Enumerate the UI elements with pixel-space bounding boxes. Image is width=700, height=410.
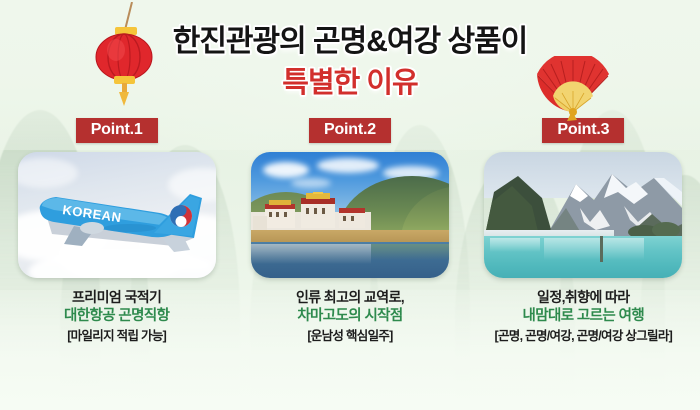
point-badge-1: Point.1: [76, 118, 158, 143]
caption-2-line-3: [운남성 핵심일주]: [296, 328, 404, 345]
promo-banner: 한진관광의 곤명&여강 상품이 특별한 이유 Point.1: [0, 0, 700, 410]
points-row: Point.1 KOREAN: [0, 118, 700, 408]
songzanlin-monastery-photo: [251, 152, 449, 278]
caption-1-line-1: 프리미엄 국적기: [64, 289, 169, 306]
caption-3-line-1: 일정,취향에 따라: [495, 289, 673, 306]
red-lantern-icon: [92, 2, 156, 108]
point-column-3: Point.3: [467, 118, 700, 408]
point-caption-3: 일정,취향에 따라 내맘대로 고르는 여행 [곤명, 곤명/여강, 곤명/여강 …: [495, 289, 673, 345]
point-column-2: Point.2: [233, 118, 466, 408]
caption-1-line-2: 대한항공 곤명직항: [64, 308, 169, 325]
korean-air-airplane-photo: KOREAN: [18, 152, 216, 278]
point-caption-2: 인류 최고의 교역로, 차마고도의 시작점 [운남성 핵심일주]: [296, 289, 404, 345]
point-caption-1: 프리미엄 국적기 대한항공 곤명직항 [마일리지 적립 가능]: [64, 289, 169, 345]
jade-dragon-snow-mountain-photo: [484, 152, 682, 278]
caption-3-line-3: [곤명, 곤명/여강, 곤명/여강 상그릴라]: [495, 328, 673, 345]
caption-2-line-2: 차마고도의 시작점: [296, 308, 404, 325]
point-badge-2: Point.2: [309, 118, 391, 143]
caption-3-line-2: 내맘대로 고르는 여행: [495, 308, 673, 325]
caption-1-line-3: [마일리지 적립 가능]: [64, 328, 169, 345]
caption-2-line-1: 인류 최고의 교역로,: [296, 289, 404, 306]
point-column-1: Point.1 KOREAN: [0, 118, 233, 408]
red-folding-fan-icon: [534, 56, 612, 122]
